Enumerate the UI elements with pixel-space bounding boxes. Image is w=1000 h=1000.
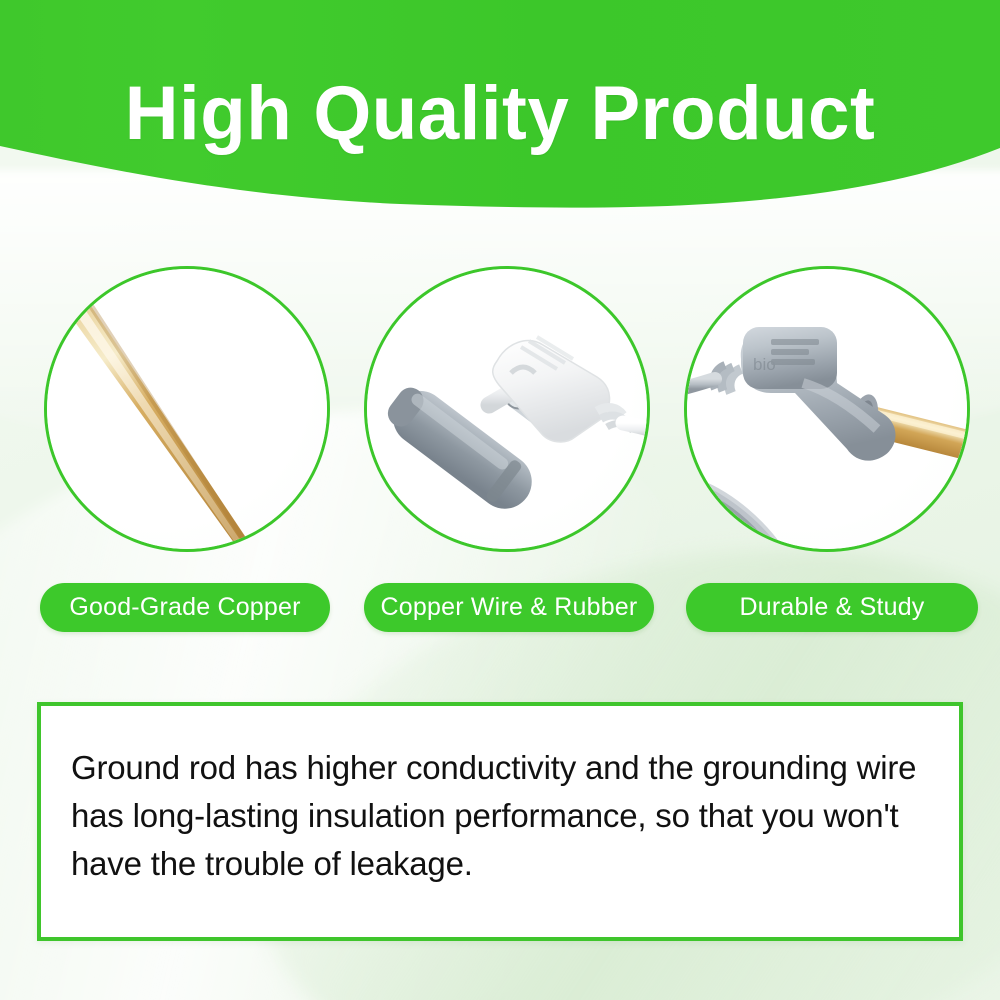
feature-circle-2 xyxy=(364,266,650,552)
feature-item-copper xyxy=(44,266,330,552)
feature-label-pill-copper[interactable]: Good-Grade Copper xyxy=(40,583,330,632)
white-plug-connector-icon xyxy=(367,269,647,549)
feature-item-wire-rubber xyxy=(364,266,650,552)
grey-elbow-connector-icon: bio xyxy=(687,269,967,549)
feature-label-pill-wire-rubber[interactable]: Copper Wire & Rubber xyxy=(364,583,654,632)
feature-circle-1 xyxy=(44,266,330,552)
feature-circle-3: bio xyxy=(684,266,970,552)
feature-label-pill-durable[interactable]: Durable & Study xyxy=(686,583,978,632)
feature-image-copper-rod-tip xyxy=(47,269,327,549)
feature-image-grey-elbow-gold-rod: bio xyxy=(687,269,967,549)
copper-rod-tip-icon xyxy=(47,275,327,549)
description-box: Ground rod has higher conductivity and t… xyxy=(37,702,963,941)
product-infographic-page: High Quality Product xyxy=(0,0,1000,1000)
description-text: Ground rod has higher conductivity and t… xyxy=(71,744,937,888)
header-banner: High Quality Product xyxy=(0,0,1000,215)
feature-image-grey-grip-white-plug xyxy=(367,269,647,549)
page-title: High Quality Product xyxy=(10,72,990,156)
connector-marking-text: bio xyxy=(753,355,776,374)
feature-item-durable: bio xyxy=(684,266,970,552)
